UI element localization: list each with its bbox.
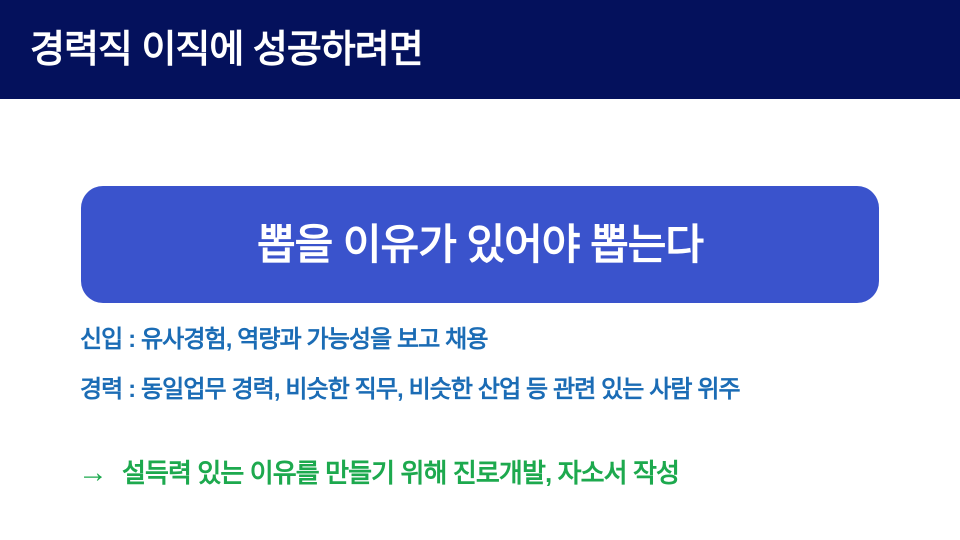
slide-header-bar: 경력직 이직에 성공하려면 [0, 0, 960, 99]
body-text-block: 신입 : 유사경험, 역량과 가능성을 보고 채용 경력 : 동일업무 경력, … [80, 327, 940, 403]
callout-highlight-box: 뽑을 이유가 있어야 뽑는다 [81, 186, 879, 303]
slide-canvas: 경력직 이직에 성공하려면 뽑을 이유가 있어야 뽑는다 신입 : 유사경험, … [0, 0, 960, 540]
body-line-newcomer: 신입 : 유사경험, 역량과 가능성을 보고 채용 [80, 327, 940, 353]
conclusion-block: → 설득력 있는 이유를 만들기 위해 진로개발, 자소서 작성 [78, 456, 679, 490]
page-title: 경력직 이직에 성공하려면 [30, 26, 423, 74]
body-line-experienced: 경력 : 동일업무 경력, 비슷한 직무, 비슷한 산업 등 관련 있는 사람 … [80, 377, 940, 403]
conclusion-text: 설득력 있는 이유를 만들기 위해 진로개발, 자소서 작성 [122, 457, 679, 489]
arrow-right-icon: → [78, 456, 108, 490]
callout-headline: 뽑을 이유가 있어야 뽑는다 [257, 219, 703, 271]
